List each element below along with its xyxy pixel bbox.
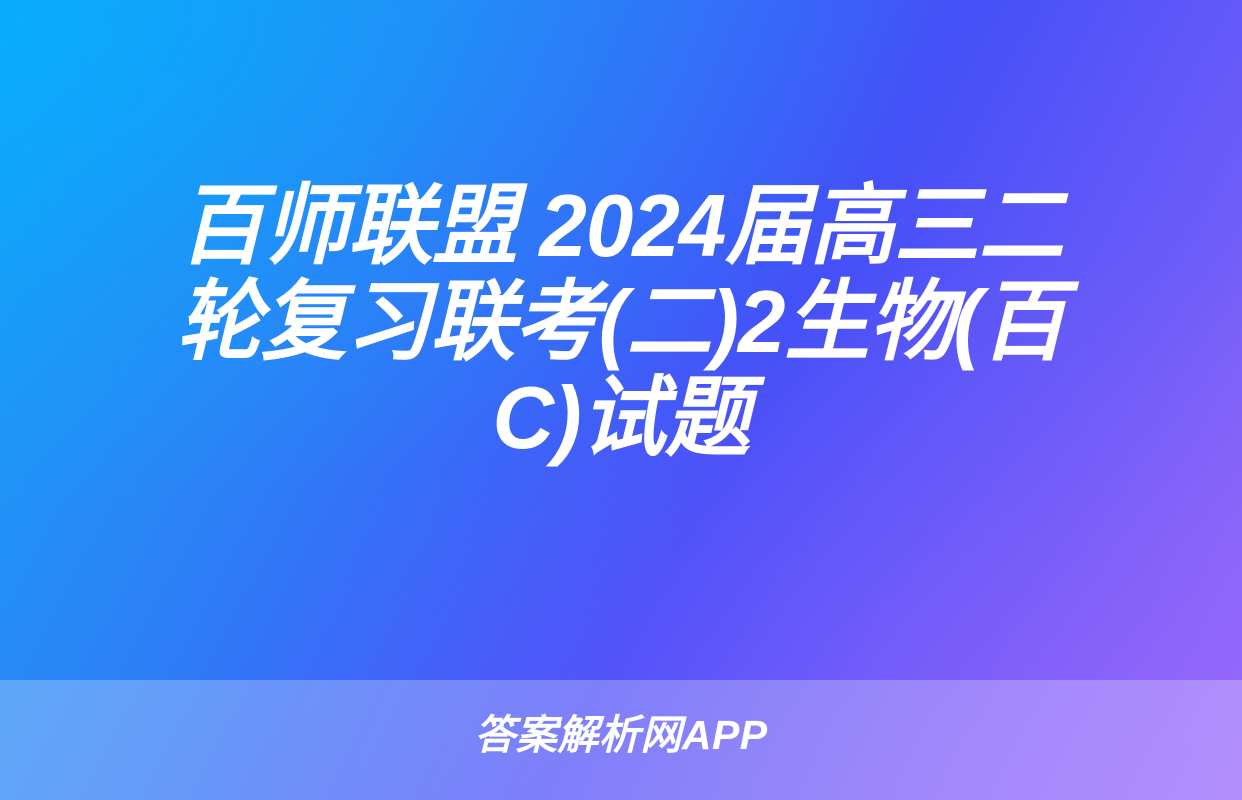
watermark: 答案解析网APP xyxy=(0,712,1242,758)
title-line-3: C)试题 xyxy=(88,370,1153,466)
watermark-label: 答案解析网APP xyxy=(474,712,767,758)
title-line-1: 百师联盟 2024届高三二 xyxy=(88,178,1153,274)
banner-title: 百师联盟 2024届高三二 轮复习联考(二)2生物(百 C)试题 xyxy=(0,178,1242,466)
title-line-2: 轮复习联考(二)2生物(百 xyxy=(88,274,1153,370)
exam-cover-banner: 百师联盟 2024届高三二 轮复习联考(二)2生物(百 C)试题 答案解析网AP… xyxy=(0,0,1242,800)
